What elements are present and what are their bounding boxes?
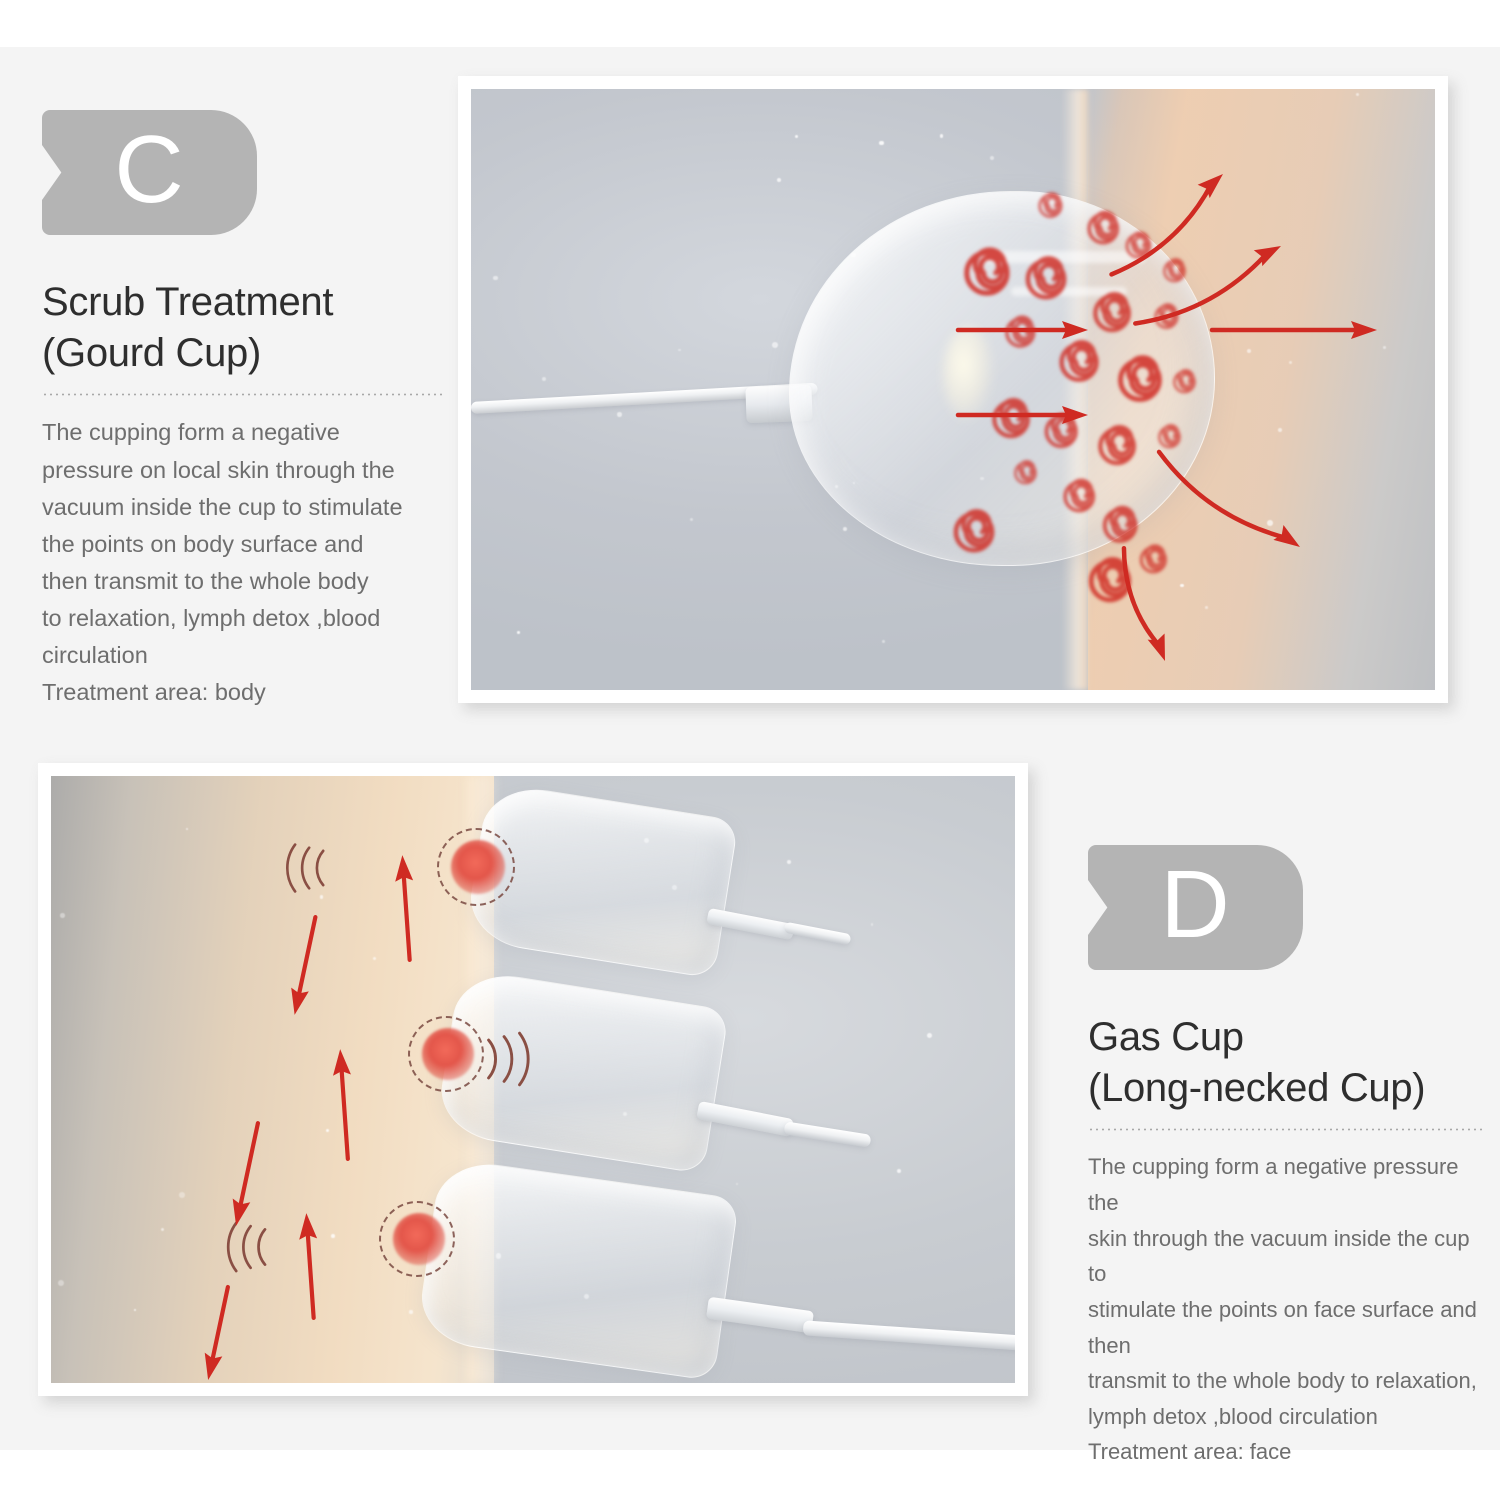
photo-gourd-cup [458,76,1448,703]
section-d-text-block: D Gas Cup (Long-necked Cup) The cupping … [1088,845,1486,1470]
stimulation-ring-icon [379,1201,455,1277]
section-d-title-line2: (Long-necked Cup) [1088,1063,1486,1114]
section-d-body-line: Treatment area: face [1088,1434,1486,1470]
red-arrow-icon [958,317,1088,343]
stimulation-ring-icon [437,828,515,906]
section-d-body-line: stimulate the points on face surface and… [1088,1292,1486,1363]
red-swirl-icon [1170,368,1199,396]
section-d-title: Gas Cup (Long-necked Cup) [1088,1012,1486,1114]
section-d-body-line: The cupping form a negative pressure the [1088,1149,1486,1220]
red-swirl-icon [1054,338,1104,386]
red-swirl-icon [1088,290,1136,337]
section-c-body-line: to relaxation, lymph detox ,blood [42,600,442,637]
wave-arc-icon [276,836,331,898]
red-swirl-icon [1112,353,1168,407]
section-d-divider [1088,1128,1486,1131]
red-swirl-icon [948,507,1000,557]
section-d-body-line: skin through the vacuum inside the cup t… [1088,1221,1486,1292]
section-c-body-line: then transmit to the whole body [42,563,442,600]
red-arrow-icon [958,402,1088,428]
section-c-body-line: circulation [42,637,442,674]
section-c-body-line: Treatment area: body [42,674,442,711]
red-swirl-icon [1011,459,1040,487]
section-c-body: The cupping form a negative pressure on … [42,414,442,711]
section-c-title-line1: Scrub Treatment [42,280,333,324]
section-d-body: The cupping form a negative pressure the… [1088,1149,1486,1470]
red-swirl-icon [1093,423,1141,470]
red-swirl-icon [1059,477,1099,516]
section-d-body-line: transmit to the whole body to relaxation… [1088,1363,1486,1399]
badge-c: C [42,110,257,235]
section-d-title-line1: Gas Cup [1088,1015,1244,1059]
photo-long-necked-cups [38,763,1028,1396]
section-c-body-line: The cupping form a negative [42,414,442,451]
badge-d: D [1088,845,1303,970]
section-c-title-line2: (Gourd Cup) [42,328,442,379]
wave-arc-icon [480,1024,540,1093]
infographic-page: C Scrub Treatment (Gourd Cup) The cuppin… [0,0,1500,1500]
badge-c-letter: C [114,122,184,218]
section-d-body-line: lymph detox ,blood circulation [1088,1399,1486,1435]
red-swirl-icon [958,245,1016,301]
red-swirl-icon [1098,504,1142,547]
badge-d-letter: D [1160,857,1230,953]
section-c-text-block: C Scrub Treatment (Gourd Cup) The cuppin… [42,110,442,711]
section-c-title: Scrub Treatment (Gourd Cup) [42,277,442,379]
red-swirl-icon [1020,254,1072,304]
stimulation-ring-icon [408,1016,484,1092]
section-c-divider [42,393,442,396]
red-swirl-icon [1035,191,1066,221]
photo-long-necked-cups-image [51,776,1015,1383]
section-c-body-line: pressure on local skin through the [42,452,442,489]
red-swirl-icon [1083,209,1123,248]
section-c-body-line: the points on body surface and [42,526,442,563]
red-arrow-icon [1212,317,1377,343]
section-c-body-line: vacuum inside the cup to stimulate [42,489,442,526]
photo-gourd-cup-image [471,89,1435,690]
